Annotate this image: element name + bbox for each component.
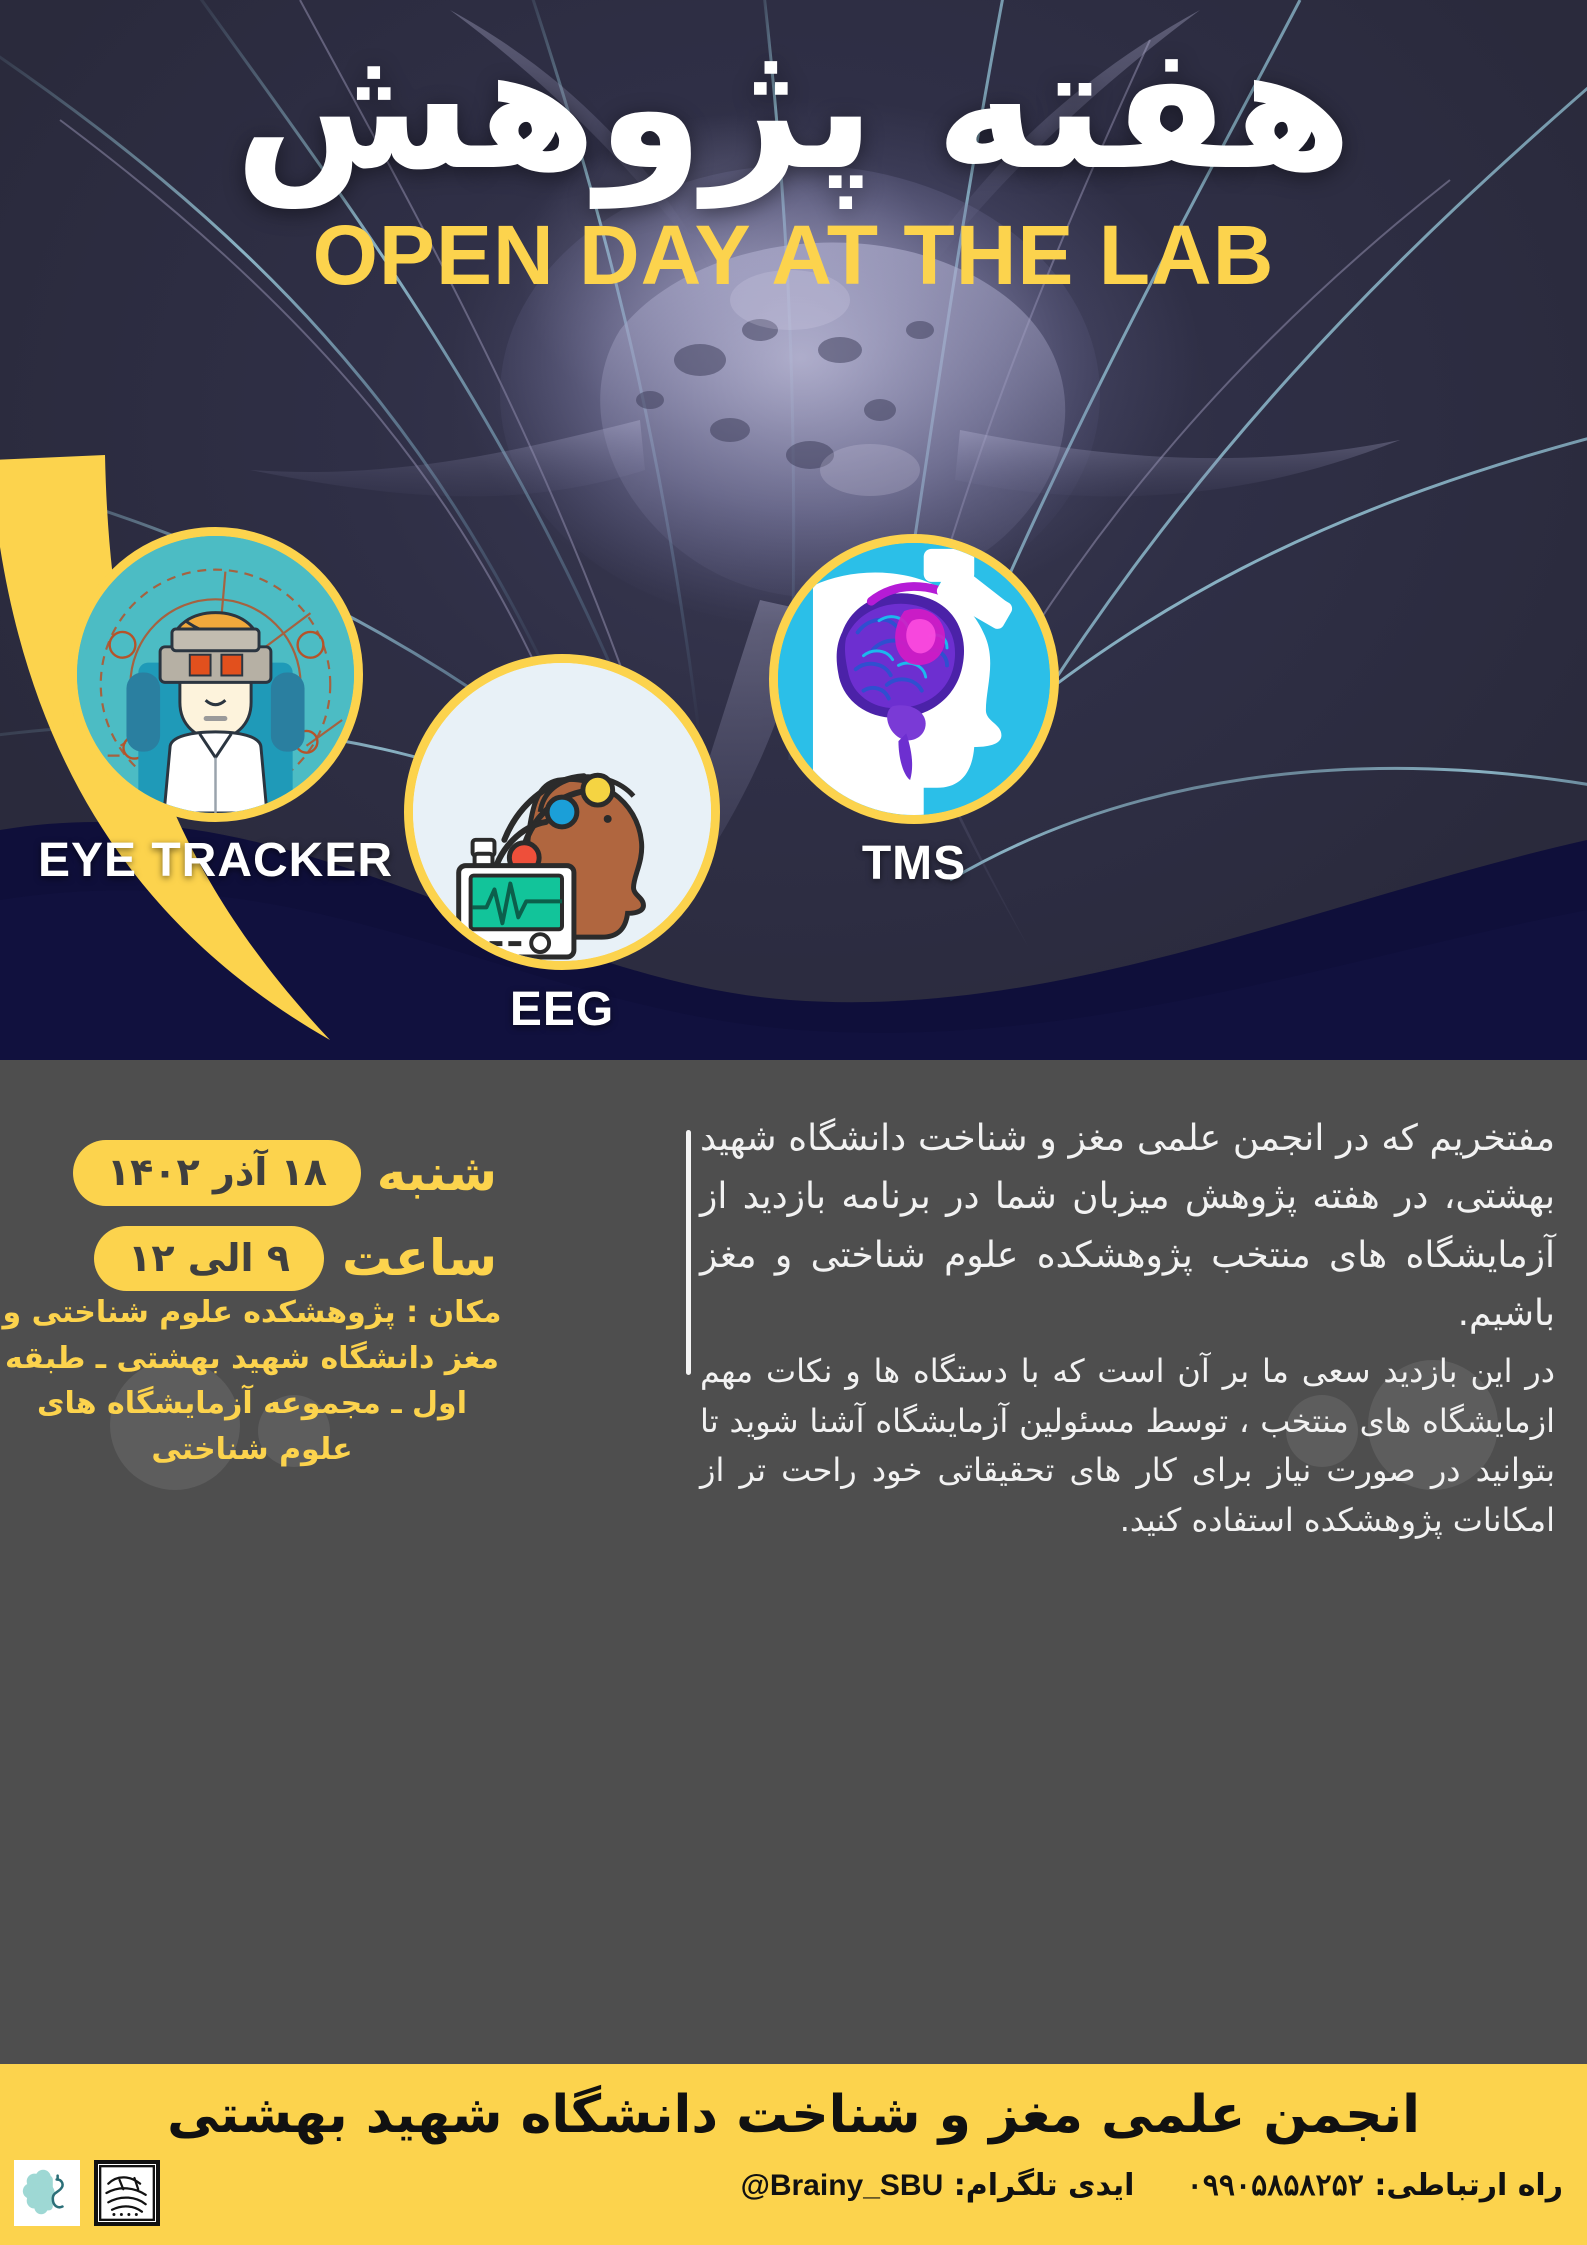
modality-eye-tracker[interactable]: EYE TRACKER bbox=[68, 527, 363, 822]
description-paragraph-1: مفتخریم که در انجمن علمی مغز و شناخت دان… bbox=[700, 1110, 1555, 1343]
footer-logos bbox=[14, 2160, 160, 2226]
vertical-divider bbox=[686, 1130, 691, 1375]
page-title-en: OPEN DAY AT THE LAB bbox=[0, 213, 1587, 297]
page-title-fa: هفته پژوهش bbox=[0, 22, 1587, 194]
poster-root: هفته پژوهش OPEN DAY AT THE LAB bbox=[0, 0, 1587, 2245]
eye-tracker-bubble bbox=[68, 527, 363, 822]
schedule-row-time: ساعت ۹ الی ۱۲ bbox=[77, 1226, 497, 1292]
brainy-sbu-brain-logo bbox=[14, 2160, 80, 2226]
schedule-row-day: شنبه ۱۸ آذر ۱۴۰۲ bbox=[77, 1140, 497, 1206]
day-label: شنبه bbox=[379, 1148, 497, 1198]
telegram-handle[interactable]: @Brainy_SBU bbox=[741, 2169, 944, 2203]
vr-headset-person-icon bbox=[77, 536, 354, 813]
tms-bubble bbox=[769, 534, 1059, 824]
organization-name: انجمن علمی مغز و شناخت دانشگاه شهید بهشت… bbox=[0, 2084, 1587, 2146]
modality-label-tms: TMS bbox=[862, 836, 966, 891]
description-block: مفتخریم که در انجمن علمی مغز و شناخت دان… bbox=[700, 1110, 1555, 1550]
brain-coil-head-icon bbox=[778, 543, 1050, 815]
telegram-label: ایدی تلگرام: bbox=[954, 2168, 1135, 2203]
eeg-bubble bbox=[404, 654, 720, 970]
time-badge: ۹ الی ۱۲ bbox=[94, 1226, 324, 1292]
modality-eeg[interactable]: EEG bbox=[404, 654, 720, 970]
modality-label-eye-tracker: EYE TRACKER bbox=[38, 833, 393, 888]
venue-text: مکان : پژوهشکده علوم شناختی و مغز دانشگا… bbox=[2, 1290, 502, 1472]
schedule-block: شنبه ۱۸ آذر ۱۴۰۲ ساعت ۹ الی ۱۲ bbox=[77, 1140, 497, 1311]
sbu-crest-icon bbox=[99, 2165, 155, 2221]
date-badge: ۱۸ آذر ۱۴۰۲ bbox=[73, 1140, 361, 1206]
brain-logo-icon bbox=[18, 2164, 76, 2222]
shahid-beheshti-university-logo bbox=[94, 2160, 160, 2226]
time-label: ساعت bbox=[342, 1233, 497, 1283]
modality-label-eeg: EEG bbox=[510, 982, 614, 1037]
contact-phone: ۰۹۹۰۵۸۵۸۲۵۲ bbox=[1187, 2168, 1364, 2203]
footer-banner: انجمن علمی مغز و شناخت دانشگاه شهید بهشت… bbox=[0, 2064, 1587, 2245]
eeg-head-electrodes-icon bbox=[413, 663, 711, 961]
modality-tms[interactable]: TMS bbox=[769, 534, 1059, 824]
description-paragraph-2: در این بازدید سعی ما بر آن است که با دست… bbox=[700, 1347, 1555, 1545]
contact-label: راه ارتباطی: bbox=[1374, 2168, 1563, 2203]
contact-line: راه ارتباطی: ۰۹۹۰۵۸۵۸۲۵۲ ایدی تلگرام: @B… bbox=[741, 2168, 1563, 2203]
